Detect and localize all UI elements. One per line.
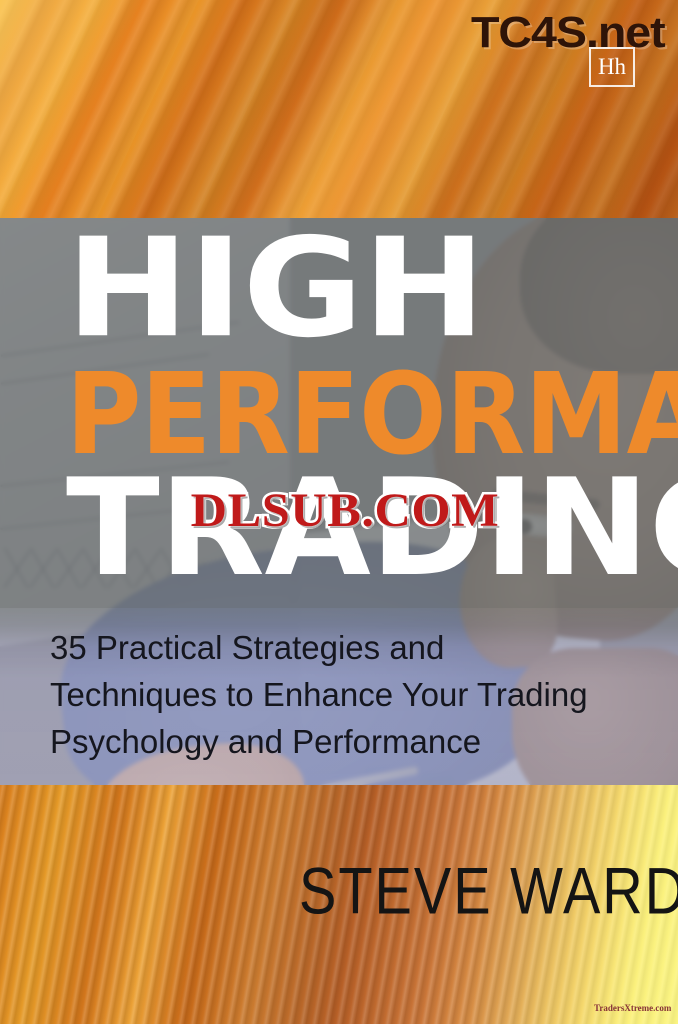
subtitle: 35 Practical Strategies and Techniques t… (50, 625, 630, 766)
book-cover: HIGH PERFORMANCE TRADING DLSUB.COM 35 Pr… (0, 0, 678, 1024)
site-watermark: TradersXtreme.com (594, 1003, 671, 1013)
subtitle-line-3: Psychology and Performance (50, 719, 630, 766)
tc4s-logo-text: TC4S.net (471, 8, 665, 58)
title-line-high: HIGH (66, 220, 485, 357)
tc4s-logo-badge-text: Hh (589, 47, 635, 87)
dlsub-watermark: DLSUB.COM (191, 483, 500, 538)
subtitle-line-2: Techniques to Enhance Your Trading (50, 672, 630, 719)
subtitle-line-1: 35 Practical Strategies and (50, 625, 630, 672)
author-name: STEVE WARD (299, 852, 678, 929)
